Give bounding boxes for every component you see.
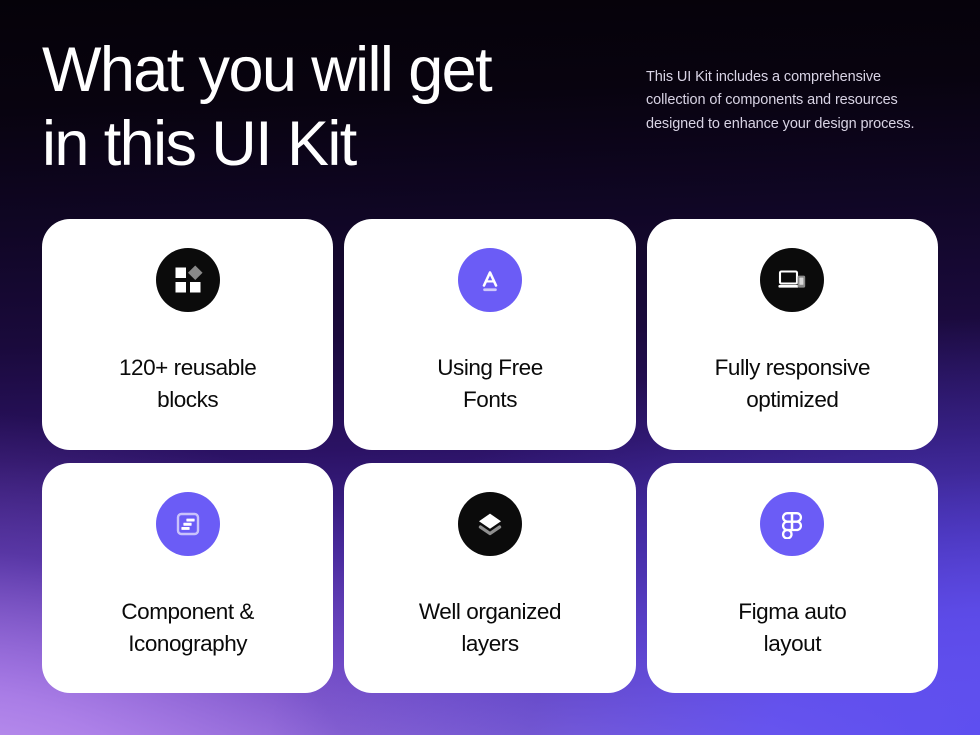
feature-card-free-fonts[interactable]: Using Free Fonts [344,219,635,450]
feature-card-component-iconography[interactable]: Component & Iconography [42,463,333,694]
feature-card-grid: 120+ reusable blocks Using Free Fonts [42,219,938,693]
figma-logo-icon [760,492,824,556]
font-letter-a-icon [458,248,522,312]
feature-card-label: Component & Iconography [121,596,254,660]
feature-card-label: Well organized layers [419,596,561,660]
feature-card-label: Figma auto layout [738,596,846,660]
component-layout-icon [156,492,220,556]
feature-card-label: Fully responsive optimized [715,352,870,416]
header-description: This UI Kit includes a comprehensive col… [646,66,938,136]
promo-slide: What you will get in this UI Kit This UI… [0,0,980,735]
page-title: What you will get in this UI Kit [42,34,491,181]
feature-card-label: 120+ reusable blocks [119,352,256,416]
feature-card-reusable-blocks[interactable]: 120+ reusable blocks [42,219,333,450]
responsive-devices-icon [760,248,824,312]
feature-card-organized-layers[interactable]: Well organized layers [344,463,635,694]
feature-card-figma-auto-layout[interactable]: Figma auto layout [647,463,938,694]
feature-card-responsive[interactable]: Fully responsive optimized [647,219,938,450]
header: What you will get in this UI Kit This UI… [42,34,938,181]
layers-stack-icon [458,492,522,556]
feature-card-label: Using Free Fonts [437,352,543,416]
blocks-grid-icon [156,248,220,312]
